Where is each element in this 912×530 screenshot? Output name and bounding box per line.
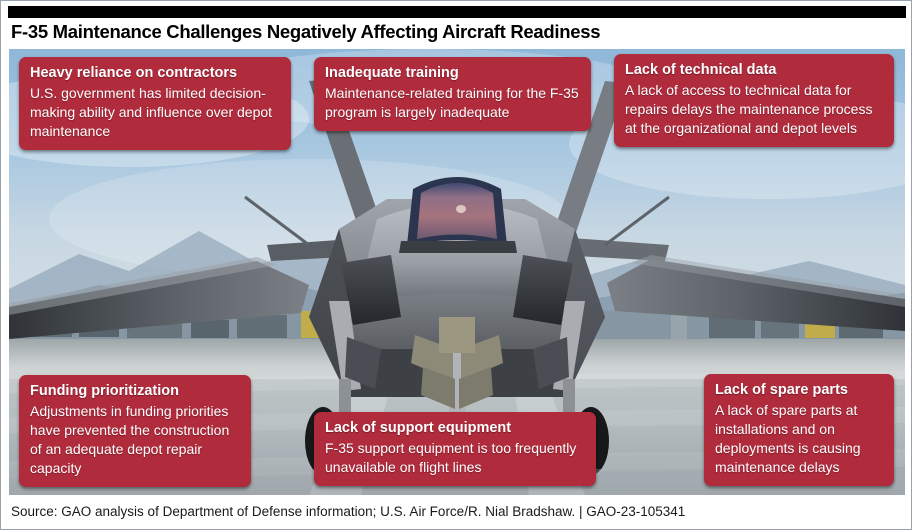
- source-note: Source: GAO analysis of Department of De…: [11, 504, 901, 519]
- callout-heading: Funding prioritization: [30, 382, 240, 401]
- callout-body: F-35 support equipment is too frequently…: [325, 439, 585, 477]
- title-rule: [8, 6, 906, 18]
- callout-lack-of-support-equipment: Lack of support equipment F-35 support e…: [314, 412, 596, 486]
- callout-funding-prioritization: Funding prioritization Adjustments in fu…: [19, 375, 251, 487]
- callout-body: Adjustments in funding priorities have p…: [30, 402, 240, 478]
- callout-heading: Heavy reliance on contractors: [30, 64, 280, 83]
- callout-heading: Lack of support equipment: [325, 419, 585, 438]
- callout-body: A lack of access to technical data for r…: [625, 81, 883, 138]
- callout-body: A lack of spare parts at installations a…: [715, 401, 883, 477]
- callout-heavy-reliance-on-contractors: Heavy reliance on contractors U.S. gover…: [19, 57, 291, 150]
- callout-heading: Lack of spare parts: [715, 381, 883, 400]
- callout-heading: Lack of technical data: [625, 61, 883, 80]
- callout-lack-of-spare-parts: Lack of spare parts A lack of spare part…: [704, 374, 894, 486]
- callout-heading: Inadequate training: [325, 64, 580, 83]
- callout-body: U.S. government has limited decision-mak…: [30, 84, 280, 141]
- page-title: F-35 Maintenance Challenges Negatively A…: [11, 21, 891, 43]
- callout-inadequate-training: Inadequate training Maintenance-related …: [314, 57, 591, 131]
- infographic-page: F-35 Maintenance Challenges Negatively A…: [0, 0, 912, 530]
- callout-body: Maintenance-related training for the F-3…: [325, 84, 580, 122]
- callout-lack-of-technical-data: Lack of technical data A lack of access …: [614, 54, 894, 147]
